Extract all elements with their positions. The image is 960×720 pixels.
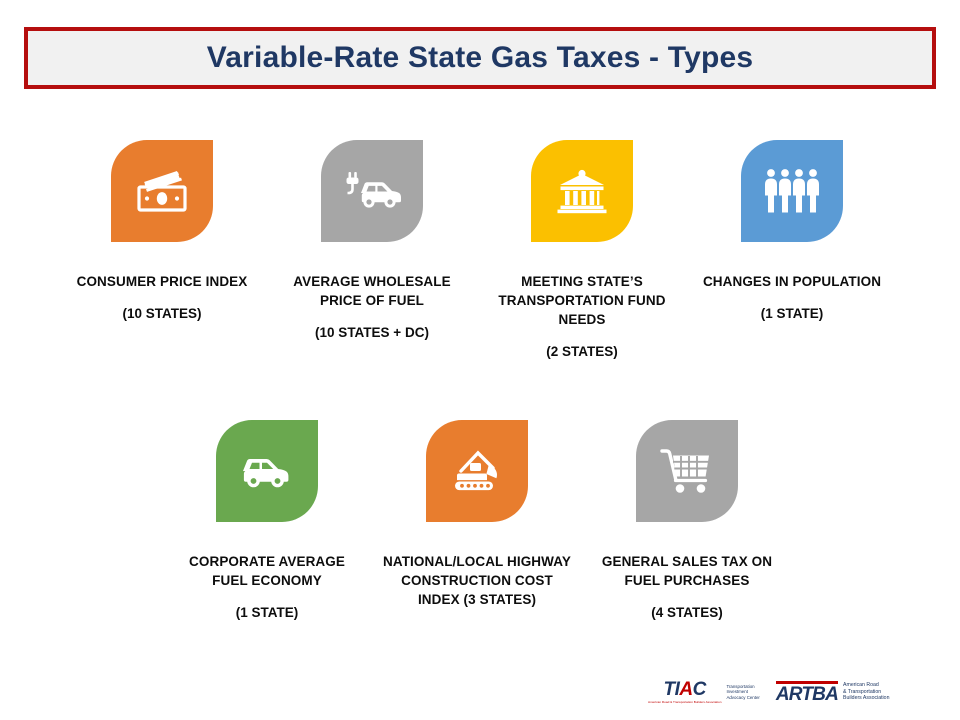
- car-icon: [236, 451, 298, 491]
- artba-wordmark: ARTBA: [776, 681, 838, 704]
- excavator-icon: [448, 448, 506, 494]
- page-title: Variable-Rate State Gas Taxes - Types: [207, 41, 754, 75]
- tiac-tagline: Transportation Investment Advocacy Cente…: [726, 684, 759, 701]
- card-count: (1 STATE): [172, 603, 362, 622]
- card-label: NATIONAL/LOCAL HIGHWAY CONSTRUCTION COST…: [382, 552, 572, 609]
- title-banner: Variable-Rate State Gas Taxes - Types: [24, 27, 936, 89]
- tile-transportation-fund-needs[interactable]: [531, 140, 633, 242]
- card-label: MEETING STATE’S TRANSPORTATION FUND NEED…: [487, 272, 677, 329]
- card-label: AVERAGE WHOLESALE PRICE OF FUEL: [277, 272, 467, 310]
- footer-logos: TIAC American Road & Transportation Buil…: [648, 672, 948, 712]
- card-count: (2 STATES): [487, 342, 677, 361]
- card-label: CORPORATE AVERAGE FUEL ECONOMY: [172, 552, 362, 590]
- card-count: (10 STATES): [67, 304, 257, 323]
- tiac-word-right: C: [693, 679, 706, 700]
- tax-type-card-transportation-fund-needs[interactable]: MEETING STATE’S TRANSPORTATION FUND NEED…: [477, 140, 687, 362]
- tax-type-card-consumer-price-index[interactable]: CONSUMER PRICE INDEX (10 STATES): [57, 140, 267, 362]
- people-group-icon: [763, 168, 821, 214]
- tax-type-card-general-sales-tax[interactable]: GENERAL SALES TAX ON FUEL PURCHASES (4 S…: [582, 420, 792, 622]
- tax-type-card-highway-construction-cost-index[interactable]: NATIONAL/LOCAL HIGHWAY CONSTRUCTION COST…: [372, 420, 582, 622]
- tile-average-wholesale-price[interactable]: [321, 140, 423, 242]
- tiac-word-left: TI: [664, 679, 680, 700]
- card-label: CHANGES IN POPULATION: [697, 272, 887, 291]
- artba-wordmark-text: ARTBA: [776, 685, 838, 704]
- tile-corporate-average-fuel-economy[interactable]: [216, 420, 318, 522]
- shopping-cart-icon: [659, 447, 715, 495]
- tax-type-card-average-wholesale-price[interactable]: AVERAGE WHOLESALE PRICE OF FUEL (10 STAT…: [267, 140, 477, 362]
- card-count: (10 STATES + DC): [277, 323, 467, 342]
- tile-consumer-price-index[interactable]: [111, 140, 213, 242]
- tile-highway-construction-cost-index[interactable]: [426, 420, 528, 522]
- card-label: CONSUMER PRICE INDEX: [67, 272, 257, 291]
- government-building-icon: [556, 168, 608, 214]
- tiac-wordmark: TIAC American Road & Transportation Buil…: [648, 680, 721, 704]
- tile-changes-in-population[interactable]: [741, 140, 843, 242]
- tiac-logo: TIAC American Road & Transportation Buil…: [648, 680, 760, 704]
- tax-type-card-changes-in-population[interactable]: CHANGES IN POPULATION (1 STATE): [687, 140, 897, 362]
- tile-general-sales-tax[interactable]: [636, 420, 738, 522]
- artba-tagline: American Road & Transportation Builders …: [843, 682, 889, 702]
- tax-type-row-1: CONSUMER PRICE INDEX (10 STATES): [0, 140, 960, 362]
- electric-car-icon: [342, 169, 402, 213]
- cash-money-icon: [133, 169, 191, 213]
- card-count: (4 STATES): [592, 603, 782, 622]
- artba-logo: ARTBA American Road & Transportation Bui…: [776, 681, 890, 704]
- artba-tagline-line1: American Road: [843, 682, 889, 689]
- artba-tagline-line3: Builders Association: [843, 695, 889, 702]
- tax-type-card-corporate-average-fuel-economy[interactable]: CORPORATE AVERAGE FUEL ECONOMY (1 STATE): [162, 420, 372, 622]
- artba-tagline-line2: & Transportation: [843, 689, 889, 696]
- tiac-tagline-line3: Advocacy Center: [726, 695, 759, 701]
- tax-type-row-2: CORPORATE AVERAGE FUEL ECONOMY (1 STATE): [0, 420, 960, 622]
- tiac-wordmark-text: TIAC: [664, 680, 706, 699]
- tiac-word-accent: A: [679, 679, 692, 700]
- tiac-subtitle: American Road & Transportation Builders …: [648, 700, 721, 704]
- card-count: (1 STATE): [697, 304, 887, 323]
- card-label: GENERAL SALES TAX ON FUEL PURCHASES: [592, 552, 782, 590]
